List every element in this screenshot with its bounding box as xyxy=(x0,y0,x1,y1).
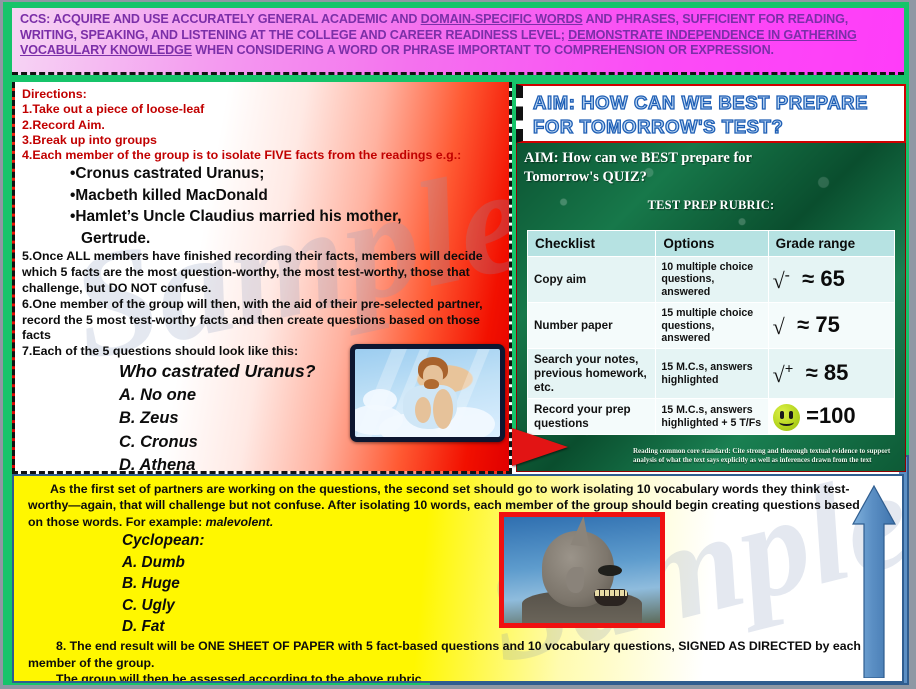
red-play-triangle-icon xyxy=(512,428,568,466)
cell-options: 15 M.C.s, answers highlighted xyxy=(656,349,768,399)
cyclops-ear xyxy=(566,567,584,593)
example-fact-3-continuation: Gertrude. xyxy=(70,228,503,250)
cyclops-mouth xyxy=(594,589,628,606)
cyclops-monster-image xyxy=(499,512,665,628)
cell-grade-range: √ ≈ 75 xyxy=(768,303,894,349)
example-facts-list: •Cronus castrated Uranus; •Macbeth kille… xyxy=(22,163,503,249)
grade-value: ≈ 65 xyxy=(802,266,845,291)
aim-title-text: AIM: HOW CAN WE BEST PREPARE FOR TOMORRO… xyxy=(523,86,904,139)
table-row: Record your prep questions 15 M.C.s, ans… xyxy=(528,399,895,435)
cell-grade-range: √+ ≈ 85 xyxy=(768,349,894,399)
grade-value: ≈ 75 xyxy=(797,312,840,337)
reading-standard-fineprint: Reading common core standard: Cite stron… xyxy=(633,447,895,465)
aim-restatement-line-2: Tomorrow's QUIZ? xyxy=(524,168,905,187)
rubric-panel: AIM: How can we BEST prepare for Tomorro… xyxy=(516,142,906,472)
cell-checklist: Search your notes, previous homework, et… xyxy=(528,349,656,399)
cell-options: 10 multiple choice questions, answered xyxy=(656,257,768,303)
vocab-closing-line: The group will then be assessed accordin… xyxy=(28,671,872,683)
example-fact-3: •Hamlet’s Uncle Claudius married his mot… xyxy=(70,206,503,228)
cell-options: 15 M.C.s, answers highlighted + 5 T/Fs xyxy=(656,399,768,435)
ccs-segment-0: CCS: ACQUIRE AND USE ACCURATELY GENERAL … xyxy=(20,12,421,26)
directions-step-4: 4.Each member of the group is to isolate… xyxy=(22,148,503,163)
vocab-paragraph-text: As the first set of partners are working… xyxy=(28,482,860,529)
aim-title-line-1: AIM: HOW CAN WE BEST PREPARE xyxy=(533,91,898,115)
smiley-face-icon xyxy=(773,404,800,431)
cell-grade-range: √- ≈ 65 xyxy=(768,257,894,303)
cell-options: 15 multiple choice questions, answered xyxy=(656,303,768,349)
column-header-grade-range: Grade range xyxy=(768,231,894,257)
ccs-standard-banner: CCS: ACQUIRE AND USE ACCURATELY GENERAL … xyxy=(12,8,904,75)
grade-value: ≈ 85 xyxy=(806,360,849,385)
aim-restatement: AIM: How can we BEST prepare for Tomorro… xyxy=(517,143,905,187)
vocab-question-choice-b: B. Huge xyxy=(122,573,872,595)
zeus-on-clouds-image xyxy=(350,344,505,442)
directions-heading: Directions: xyxy=(22,87,503,102)
checkmark-icon: √ xyxy=(773,314,785,339)
checkmark-plus-icon: √+ xyxy=(773,362,794,387)
vocab-closing-text: The group will then be assessed accordin… xyxy=(56,672,422,683)
vocabulary-panel: Sample As the first set of partners are … xyxy=(12,474,904,683)
directions-step-5: 5.Once ALL members have finished recordi… xyxy=(22,249,503,296)
directions-step-6: 6.One member of the group will then, wit… xyxy=(22,297,503,344)
vocab-question-stem: Cyclopean: xyxy=(122,530,872,552)
directions-step-1: 1.Take out a piece of loose-leaf xyxy=(22,102,503,117)
directions-step-2: 2.Record Aim. xyxy=(22,118,503,133)
cyclops-horn xyxy=(570,517,592,547)
cyclops-illustration xyxy=(504,517,660,623)
rubric-label: TEST PREP RUBRIC: xyxy=(517,198,905,213)
sample-question-choice-d: D. Athena xyxy=(119,454,503,474)
cell-grade-range: =100 xyxy=(768,399,894,435)
vocab-question-choice-d: D. Fat xyxy=(122,616,872,638)
table-header-row: Checklist Options Grade range xyxy=(528,231,895,257)
checkmark-minus-icon: √- xyxy=(773,268,790,293)
grade-value: =100 xyxy=(806,403,856,428)
directions-step-3: 3.Break up into groups xyxy=(22,133,503,148)
aim-restatement-line-1: AIM: How can we BEST prepare for xyxy=(524,149,905,168)
table-row: Number paper 15 multiple choice question… xyxy=(528,303,895,349)
aim-title-line-2: FOR TOMORROW'S TEST? xyxy=(533,115,898,139)
table-row: Search your notes, previous homework, et… xyxy=(528,349,895,399)
column-header-checklist: Checklist xyxy=(528,231,656,257)
example-fact-1: •Cronus castrated Uranus; xyxy=(70,163,503,185)
sample-vocab-question: Cyclopean: A. Dumb B. Huge C. Ugly D. Fa… xyxy=(28,530,872,638)
table-row: Copy aim 10 multiple choice questions, a… xyxy=(528,257,895,303)
test-prep-rubric-table: Checklist Options Grade range Copy aim 1… xyxy=(527,230,895,435)
blue-up-arrow-icon xyxy=(852,482,896,678)
vocab-paragraph: As the first set of partners are working… xyxy=(28,481,872,530)
example-fact-2: •Macbeth killed MacDonald xyxy=(70,185,503,207)
vocabulary-content: As the first set of partners are working… xyxy=(14,476,902,683)
column-header-options: Options xyxy=(656,231,768,257)
vocab-question-choice-a: A. Dumb xyxy=(122,552,872,574)
zeus-illustration xyxy=(355,349,500,437)
aim-title-box: AIM: HOW CAN WE BEST PREPARE FOR TOMORRO… xyxy=(516,84,906,143)
cell-checklist: Number paper xyxy=(528,303,656,349)
ccs-standard-text: CCS: ACQUIRE AND USE ACCURATELY GENERAL … xyxy=(20,12,896,59)
cell-checklist: Copy aim xyxy=(528,257,656,303)
vocab-example-word: malevolent. xyxy=(206,515,274,529)
vocab-step-8-text: 8. The end result will be ONE SHEET OF P… xyxy=(28,639,861,670)
cyclops-eye xyxy=(598,565,622,576)
ccs-segment-1: DOMAIN-SPECIFIC WORDS xyxy=(421,12,583,26)
vocab-step-8: 8. The end result will be ONE SHEET OF P… xyxy=(28,638,872,672)
vocab-question-choice-c: C. Ugly xyxy=(122,595,872,617)
slide-canvas: CCS: ACQUIRE AND USE ACCURATELY GENERAL … xyxy=(0,0,916,689)
ccs-segment-4: WHEN CONSIDERING A WORD OR PHRASE IMPORT… xyxy=(192,43,774,57)
